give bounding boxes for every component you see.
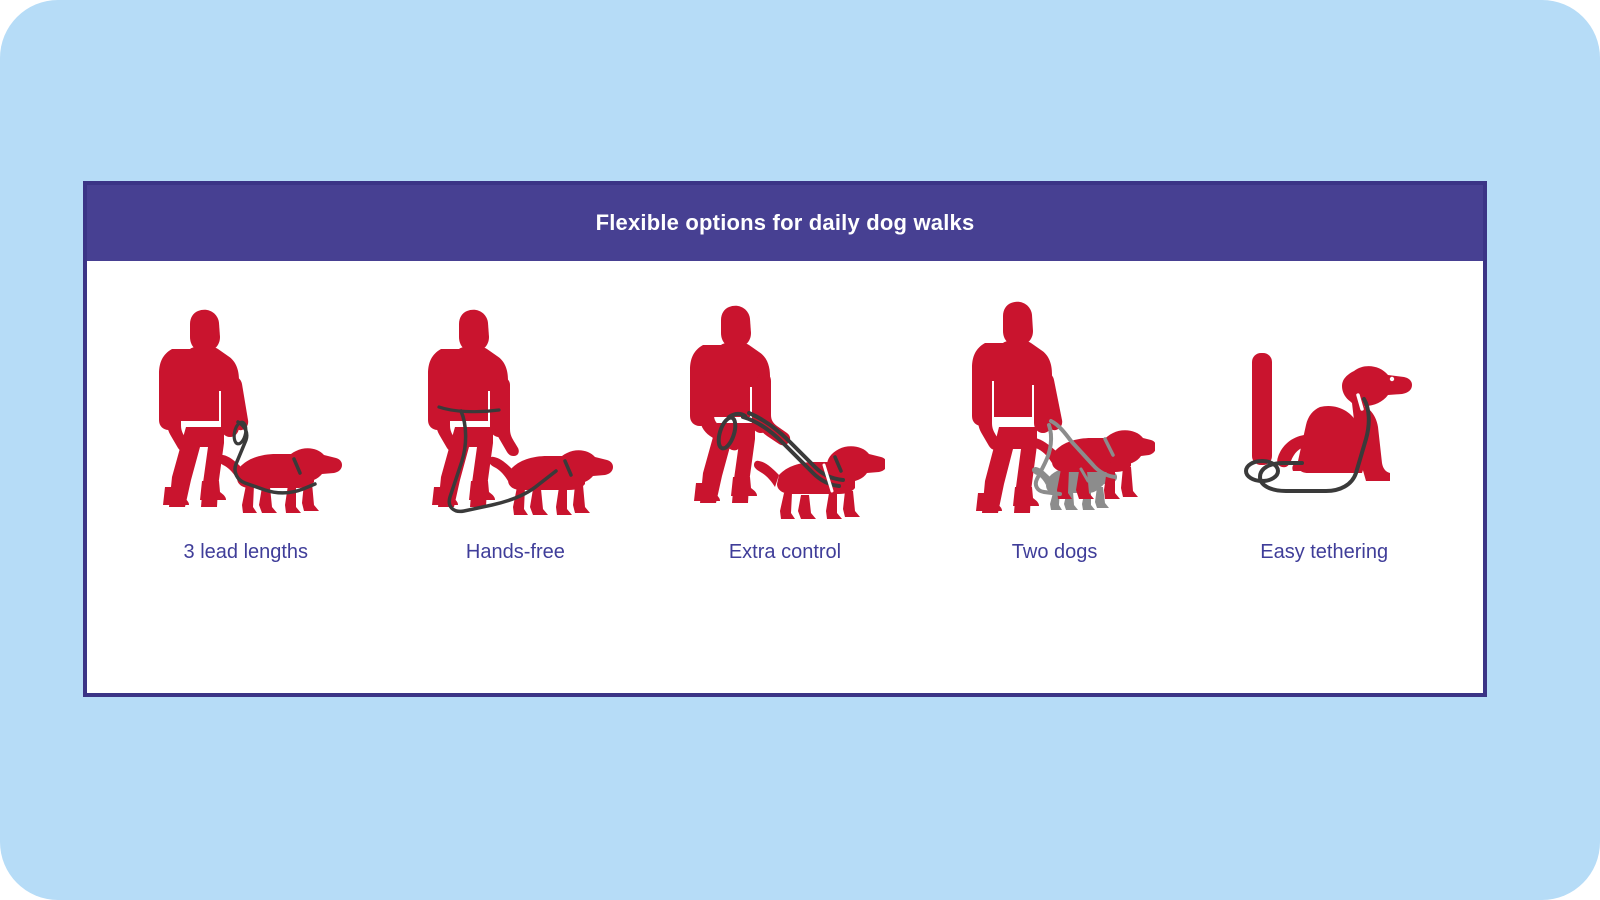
slide-canvas: Flexible options for daily dog walks — [0, 0, 1600, 900]
card-header-banner: Flexible options for daily dog walks — [87, 185, 1483, 261]
person-waist-belt-leash-dog-icon — [400, 299, 630, 519]
dog-tethered-to-post-icon — [1209, 299, 1439, 519]
feature-panel-row: 3 lead lengths — [87, 261, 1483, 693]
feature-panel-two-dogs[interactable]: Two dogs — [930, 299, 1180, 564]
person-walking-dog-short-leash-icon — [131, 299, 361, 519]
page-title: Flexible options for daily dog walks — [596, 210, 975, 236]
feature-card: Flexible options for daily dog walks — [83, 181, 1487, 697]
feature-label: 3 lead lengths — [184, 541, 309, 564]
feature-panel-hands-free[interactable]: Hands-free — [390, 299, 640, 564]
feature-label: Two dogs — [1012, 541, 1098, 564]
feature-label: Hands-free — [466, 541, 565, 564]
feature-label: Extra control — [729, 541, 841, 564]
person-two-handed-leash-dog-harness-icon — [670, 299, 900, 519]
feature-panel-easy-tethering[interactable]: Easy tethering — [1199, 299, 1449, 564]
feature-panel-extra-control[interactable]: Extra control — [660, 299, 910, 564]
person-walking-two-dogs-icon — [940, 299, 1170, 519]
feature-label: Easy tethering — [1260, 541, 1388, 564]
feature-panel-3-lead-lengths[interactable]: 3 lead lengths — [121, 299, 371, 564]
